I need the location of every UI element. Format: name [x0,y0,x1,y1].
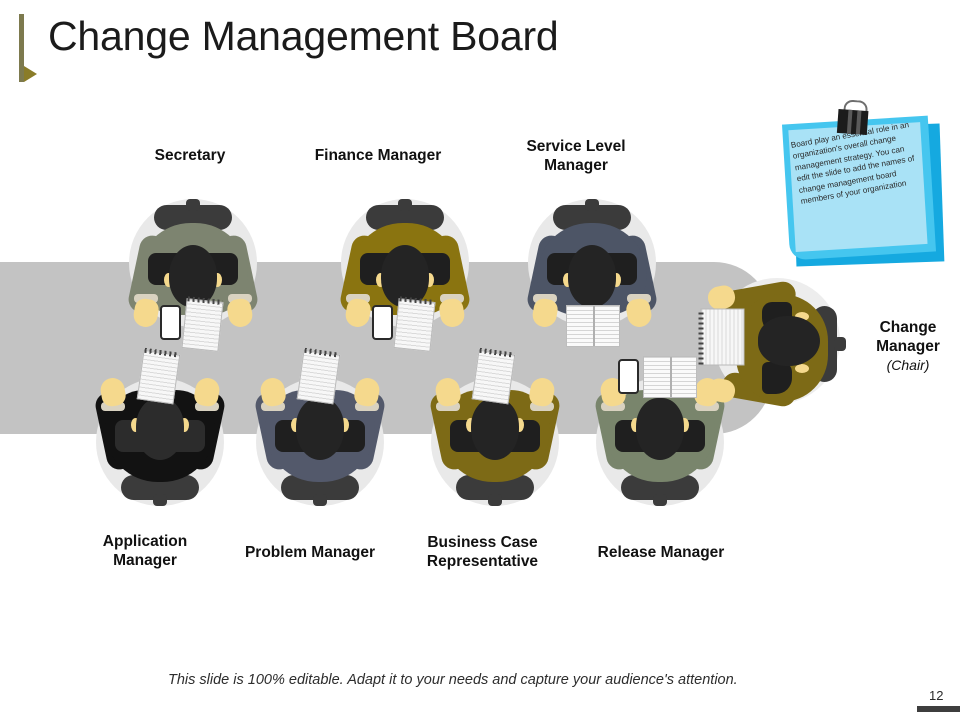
notepad-icon [297,350,341,405]
phone-icon [372,305,393,340]
chair-headrest [313,494,327,506]
page-number-bar [917,706,960,712]
binder-clip-body [837,109,869,135]
chair-headrest [398,199,412,211]
chair-headrest [834,337,846,351]
footer-note: This slide is 100% editable. Adapt it to… [168,672,738,688]
open-book-icon [643,356,697,398]
head [296,398,344,460]
chair-headrest [186,199,200,211]
hand-left [132,297,160,329]
figure-business-case-representative [420,355,570,510]
label-application-manager: Application Manager [82,532,208,570]
chair-headrest [488,494,502,506]
label-secretary: Secretary [110,146,270,165]
label-business-case-representative: Business Case Representative [405,533,560,571]
notepad-icon-chair [701,309,745,366]
label-finance-manager: Finance Manager [273,146,483,165]
label-change-manager-role: (Chair) [858,356,958,375]
label-problem-manager: Problem Manager [225,543,395,562]
phone-icon [618,359,639,394]
page-number: 12 [929,688,943,703]
label-release-manager: Release Manager [578,543,744,562]
figure-secretary [118,195,268,350]
hand-left [344,297,372,329]
head [568,245,616,307]
notepad-icon [472,350,516,405]
head [136,398,184,460]
open-book-icon [566,305,620,347]
label-change-manager-name: Change Manager [876,319,940,355]
ear-bottom [795,364,809,373]
notepad-icon [181,298,223,352]
binder-clip-icon [837,99,869,135]
figure-problem-manager [245,355,395,510]
chair-headrest [585,199,599,211]
head [758,316,820,366]
hand-left [531,297,559,329]
figure-finance-manager [330,195,480,350]
notepad-icon [137,350,181,405]
slide-canvas: Change Management Board Secretary Financ… [0,0,960,720]
page-title: Change Management Board [48,13,559,60]
phone-icon [160,305,181,340]
label-service-level-manager: Service Level Manager [500,137,652,175]
head [471,398,519,460]
label-change-manager: Change Manager (Chair) [858,318,958,375]
figure-application-manager [85,355,235,510]
figure-service-level-manager [517,195,667,350]
chair-headrest [653,494,667,506]
chair-headrest [153,494,167,506]
notepad-icon [393,298,435,352]
title-triangle-icon [24,66,37,82]
head [636,398,684,460]
